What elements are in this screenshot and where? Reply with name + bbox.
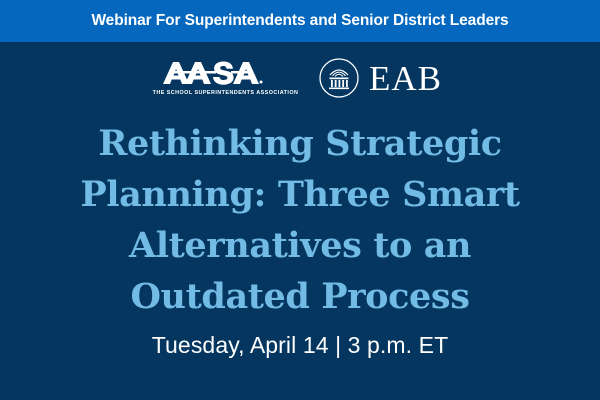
event-date-time: Tuesday, April 14 | 3 p.m. ET [0,332,600,359]
eab-wordmark: EAB [369,61,442,96]
title-line-4: Outdated Process [30,271,570,322]
eab-classical-building-icon [318,57,360,99]
top-banner: Webinar For Superintendents and Senior D… [0,0,600,42]
logo-row: THE SCHOOL SUPERINTENDENTS ASSOCIATION [0,50,600,106]
aasa-tagline: THE SCHOOL SUPERINTENDENTS ASSOCIATION [152,90,298,96]
title-line-2: Planning: Three Smart [30,169,570,220]
eab-logo: EAB [318,57,442,99]
title-line-1: Rethinking Strategic [30,118,570,169]
aasa-wordmark-icon [161,61,289,88]
aasa-logo: THE SCHOOL SUPERINTENDENTS ASSOCIATION [158,61,292,96]
webinar-title: Rethinking Strategic Planning: Three Sma… [30,118,570,322]
banner-audience-text: Webinar For Superintendents and Senior D… [91,12,508,30]
webinar-promo-card: Webinar For Superintendents and Senior D… [0,0,600,400]
title-line-3: Alternatives to an [30,220,570,271]
